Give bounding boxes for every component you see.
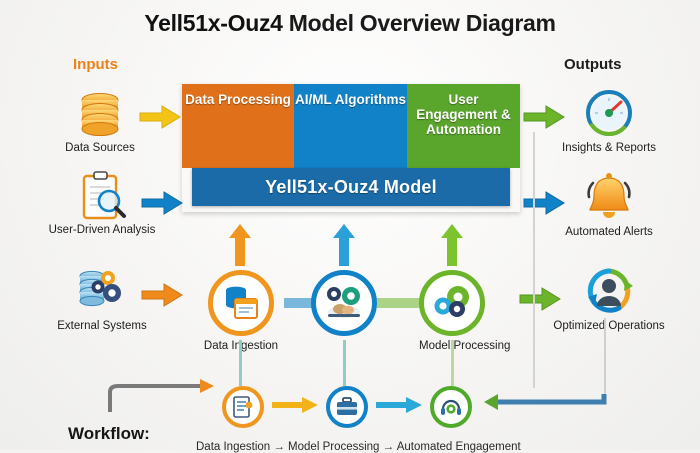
page-title: Yell51x-Ouz4 Model Overview Diagram [0, 10, 700, 37]
ring-blue [311, 270, 377, 336]
gauge-dial-icon [581, 88, 637, 140]
database-gears-icon [74, 266, 130, 318]
output-node-automated-alerts[interactable]: Automated Alerts [548, 172, 670, 238]
document-lock-icon [231, 395, 255, 419]
arrow-external-systems-to-ingestion [142, 282, 184, 308]
workflow-step-model-processing[interactable] [326, 386, 368, 428]
inputs-header: Inputs [73, 56, 118, 73]
workflow-step-data-ingestion[interactable] [222, 386, 264, 428]
arrow-workflow-1 [272, 396, 320, 414]
arrow-data-sources-to-banner [140, 104, 182, 130]
outputs-divider [533, 132, 535, 388]
band-ai-ml-algorithms[interactable]: AI/ML Algorithms [294, 84, 407, 168]
model-name-bar[interactable]: Yell51x-Ouz4 Model [192, 168, 510, 206]
band-label-data-processing: Data Processing [185, 92, 291, 107]
process-circle-middle[interactable] [311, 270, 377, 340]
output-label-automated-alerts: Automated Alerts [548, 226, 670, 238]
clipboard-magnifier-icon [74, 170, 130, 222]
bell-icon [581, 172, 637, 224]
gears-cloud-icon [323, 284, 365, 322]
arrow-workflow-feedback [484, 390, 606, 414]
outputs-header: Outputs [564, 56, 622, 73]
title-rest: Model Overview Diagram [283, 10, 556, 36]
model-name-label: Yell51x-Ouz4 Model [265, 177, 437, 198]
ring-blue-small [326, 386, 368, 428]
arrow-user-driven-analysis-to-banner [142, 190, 184, 216]
title-accent: Yell51x-Ouz4 [144, 10, 282, 36]
ring-orange-small [222, 386, 264, 428]
diagram-canvas: Yell51x-Ouz4 Model Overview Diagram Inpu… [0, 0, 700, 450]
drop-line-ingestion [239, 340, 242, 386]
arrow-model-processing-up [440, 224, 464, 266]
output-node-insights-reports[interactable]: Insights & Reports [551, 88, 667, 154]
band-label-ai-ml-algorithms: AI/ML Algorithms [295, 92, 406, 107]
drop-line-middle [343, 340, 346, 386]
briefcase-icon [335, 395, 359, 419]
workflow-step-automated-engagement[interactable] [430, 386, 472, 428]
workflow-loopback-line [104, 378, 224, 414]
arrow-banner-to-insights [524, 104, 566, 130]
connector-middle-processing [377, 298, 420, 308]
gears-cog-icon [431, 284, 473, 322]
arrow-banner-to-alerts [524, 190, 566, 216]
workflow-sequence: Data Ingestion → Model Processing → Auto… [196, 441, 521, 453]
band-user-engagement-automation[interactable]: User Engagement & Automation [407, 84, 520, 168]
arrow-workflow-2 [376, 396, 424, 414]
input-label-data-sources: Data Sources [44, 142, 156, 154]
output-node-optimized-operations[interactable]: Optimized Operations [543, 266, 675, 332]
drop-line-processing [451, 340, 454, 386]
band-label-user-engagement-automation: User Engagement & Automation [407, 92, 520, 137]
connector-ingestion-middle [284, 298, 312, 308]
arrow-processing-to-operations [520, 286, 562, 312]
database-icon [72, 88, 128, 140]
band-data-processing[interactable]: Data Processing [182, 84, 294, 168]
model-banner: Data Processing AI/ML Algorithms User En… [182, 84, 520, 212]
arrow-ingestion-up [228, 224, 252, 266]
ring-orange [208, 270, 274, 336]
user-cycle-icon [581, 266, 637, 318]
ring-green [419, 270, 485, 336]
output-label-optimized-operations: Optimized Operations [543, 320, 675, 332]
arrow-middle-up [332, 224, 356, 266]
input-label-user-driven-analysis: User-Driven Analysis [38, 224, 166, 236]
feedback-line-vertical [604, 318, 606, 400]
input-label-external-systems: External Systems [44, 320, 160, 332]
workflow-label: Workflow: [68, 424, 150, 444]
database-window-icon [221, 283, 261, 323]
ring-green-small [430, 386, 472, 428]
output-label-insights-reports: Insights & Reports [551, 142, 667, 154]
headset-gear-icon [439, 395, 463, 419]
